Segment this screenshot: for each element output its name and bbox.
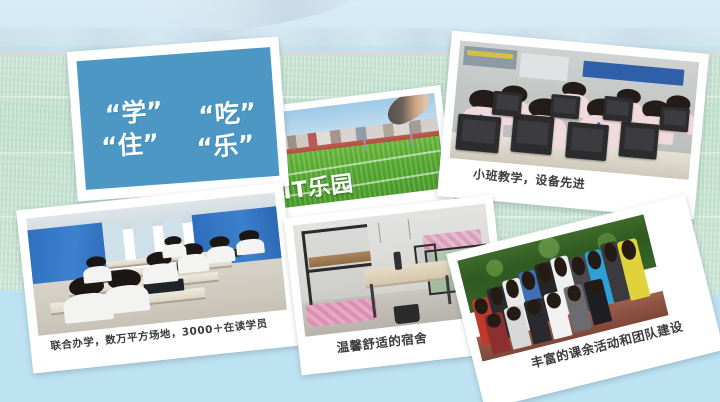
photo-monitor <box>550 94 581 120</box>
photo-monitor <box>565 121 609 161</box>
photo-monitor <box>492 91 523 117</box>
photo-student <box>239 230 261 256</box>
photo-monitor <box>602 96 633 122</box>
slogan-word-zhu: “住” <box>101 131 161 160</box>
classroom-photo <box>26 192 287 335</box>
photo-monitor <box>510 114 554 155</box>
slogan-word-le: “乐” <box>196 132 256 161</box>
photo-student <box>164 235 184 258</box>
slogan-card[interactable]: “学” “吃” “住” “乐” <box>67 36 289 201</box>
photo-monitor <box>659 106 690 132</box>
photo-hanger-rack <box>378 219 411 243</box>
photo-student <box>107 268 144 314</box>
computer-lab-card[interactable]: 小班教学，设备先进 <box>437 31 709 220</box>
slogan-grid: “学” “吃” “住” “乐” <box>77 47 280 190</box>
classroom-card[interactable]: 联合办学，数万平方场地，3000＋在读学员 <box>16 182 300 373</box>
photo-student <box>209 235 232 263</box>
it-playground-photo: IT乐园 <box>263 93 445 209</box>
photo-trash-bin <box>394 304 421 325</box>
photo-monitor <box>455 114 501 153</box>
promo-banner: “学” “吃” “住” “乐” IT乐园 <box>0 0 720 402</box>
photo-window <box>520 53 570 81</box>
computer-lab-photo <box>450 40 700 179</box>
slogan-word-xue: “学” <box>104 98 164 127</box>
slogan-word-chi: “吃” <box>197 99 257 128</box>
photo-student <box>85 255 108 283</box>
slogan-panel: “学” “吃” “住” “乐” <box>77 47 280 190</box>
photo-monitor <box>618 121 659 160</box>
